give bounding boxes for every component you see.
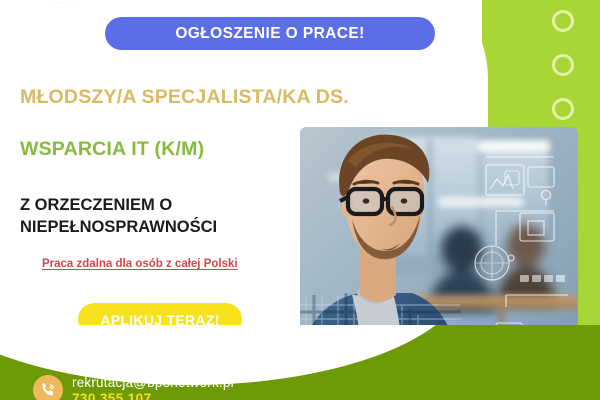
page-subtitle-line-2: NIEPEŁNOSPRAWNOŚCI: [20, 216, 217, 238]
contact-footer: rekrutacja@bponetwork.pl 730 355 107: [0, 325, 600, 400]
circle-outline-icon: [552, 54, 574, 76]
contact-phone[interactable]: 730 355 107: [72, 391, 234, 400]
contact-lines: rekrutacja@bponetwork.pl 730 355 107: [72, 371, 234, 400]
circle-outline-icon: [552, 10, 574, 32]
remote-work-note: Praca zdalna dla osób z całej Polski: [42, 258, 238, 270]
page-subtitle-line-1: Z ORZECZENIEM O: [20, 194, 217, 216]
circle-outline-icon: [552, 98, 574, 120]
decorative-dots: [552, 10, 574, 120]
contact-block: rekrutacja@bponetwork.pl 730 355 107: [33, 371, 234, 400]
page-subtitle: Z ORZECZENIEM O NIEPEŁNOSPRAWNOŚCI: [20, 194, 217, 239]
job-announcement-badge[interactable]: OGŁOSZENIE O PRACE!: [105, 17, 435, 50]
cropped-top-text: ........: [52, 0, 78, 5]
page-title-line-1: MŁODSZY/A SPECJALISTA/KA DS.: [20, 86, 349, 109]
phone-icon: [33, 375, 63, 400]
page-title-line-2: WSPARCIA IT (K/M): [20, 138, 204, 161]
contact-email[interactable]: rekrutacja@bponetwork.pl: [72, 375, 234, 390]
job-advert-poster: ........ OGŁOSZENIE O PRACE! MŁODSZY/A S…: [0, 0, 600, 400]
